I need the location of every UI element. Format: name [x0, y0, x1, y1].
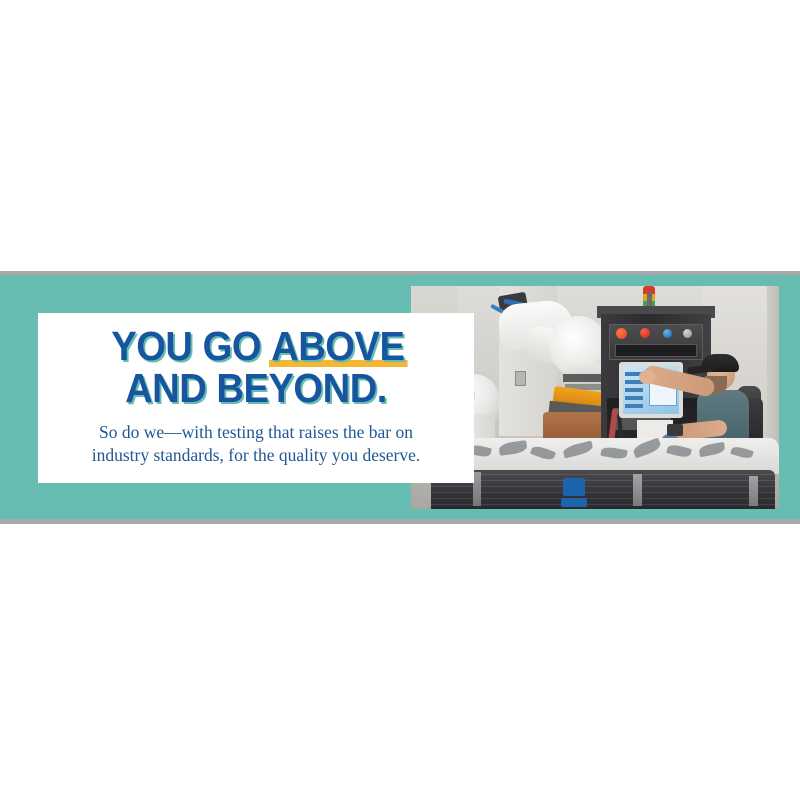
stop-button-icon [640, 328, 650, 338]
headline-line-1: YOU GO ABOVE [68, 327, 444, 366]
hmi-menu-row [625, 388, 643, 392]
hmi-menu-row [625, 404, 643, 408]
mattress-handle [473, 472, 481, 506]
hmi-menu-row [625, 396, 643, 400]
mattress-brand-label [563, 478, 585, 496]
wall-outlet-icon [515, 371, 526, 386]
technician-hand [639, 370, 655, 384]
mattress-handle [633, 474, 642, 506]
banner-top-rule [0, 271, 800, 275]
reset-button-icon [663, 329, 672, 338]
headline-card: YOU GO ABOVE AND BEYOND. So do we—with t… [38, 313, 474, 483]
headline-line-2: AND BEYOND. [68, 369, 444, 408]
mattress-handle [749, 476, 758, 506]
mattress-side-ribbing [431, 474, 775, 509]
teach-pendant [667, 424, 683, 436]
control-panel-readout [615, 344, 697, 357]
mattress-model-label [561, 498, 587, 507]
banner-bottom-rule [0, 519, 800, 524]
promo-banner: YOU GO ABOVE AND BEYOND. So do we—with t… [0, 271, 800, 524]
selector-knob-icon [683, 329, 692, 338]
emergency-stop-button-icon [616, 328, 627, 339]
subcopy-text: So do we—with testing that raises the ba… [54, 421, 458, 467]
headline-line-1-prefix: YOU GO [111, 323, 271, 369]
headline-highlight-above: ABOVE [271, 327, 404, 366]
